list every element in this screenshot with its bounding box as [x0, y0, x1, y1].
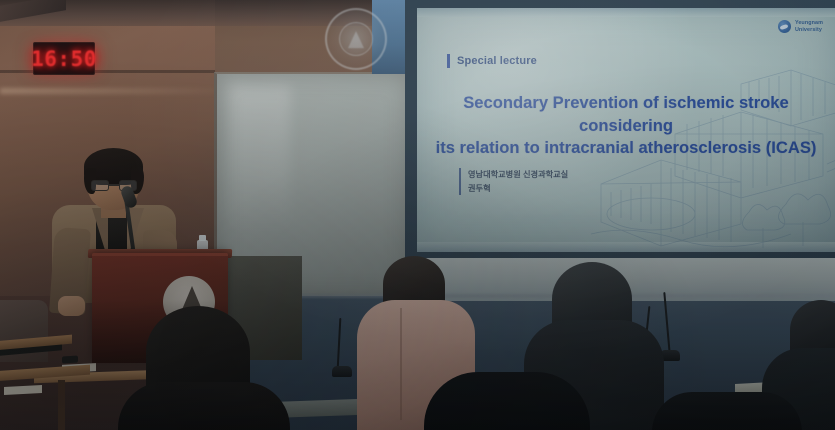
slide-title-line-1: Secondary Prevention of ischemic stroke … [463, 93, 789, 135]
kicker-accent-bar [447, 54, 450, 68]
audience-body-6 [652, 392, 802, 430]
affiliation-text: 영남대학교병원 신경과학교실 [468, 168, 568, 182]
seal-crest-mark [348, 31, 364, 48]
yeungnam-logo-icon [778, 20, 791, 33]
shirt-seam [400, 308, 402, 420]
lens-left [91, 180, 109, 191]
projected-slide: Yeungnam University Special lecture Seco… [417, 8, 835, 252]
wall-light-streak [0, 88, 215, 94]
yeungnam-university-logo: Yeungnam University [778, 20, 823, 33]
digital-wall-clock: 16:50 [33, 42, 95, 75]
audience-body-1 [118, 382, 290, 430]
logo-line-1: Yeungnam [795, 20, 823, 26]
university-name: Yeungnam University [795, 20, 823, 32]
glasses-bridge [109, 184, 119, 186]
presenter-name-text: 권두혁 [468, 182, 568, 196]
screen-top-band [417, 8, 835, 17]
speaker-left-hand [58, 296, 85, 316]
university-seal-icon [325, 8, 387, 70]
wall-edge-highlight [215, 294, 835, 298]
table-leg [58, 380, 65, 430]
desk-microphone-base-3 [332, 366, 352, 377]
clock-time-text: 16:50 [31, 47, 97, 71]
slide-kicker-row: Special lecture [447, 54, 537, 68]
slide-affiliation-block: 영남대학교병원 신경과학교실 권두혁 [459, 168, 568, 195]
audience-body-4 [424, 372, 590, 430]
logo-line-2: University [795, 27, 823, 33]
slide-title: Secondary Prevention of ischemic stroke … [417, 92, 835, 160]
slide-kicker-label: Special lecture [457, 55, 537, 67]
screen-bottom-band [417, 242, 835, 252]
lecture-hall-screenshot: 16:50 [0, 0, 835, 430]
slide-title-line-2: its relation to intracranial atheroscler… [427, 137, 825, 160]
desk-object [62, 355, 78, 363]
whiteboard-glare [230, 86, 290, 236]
